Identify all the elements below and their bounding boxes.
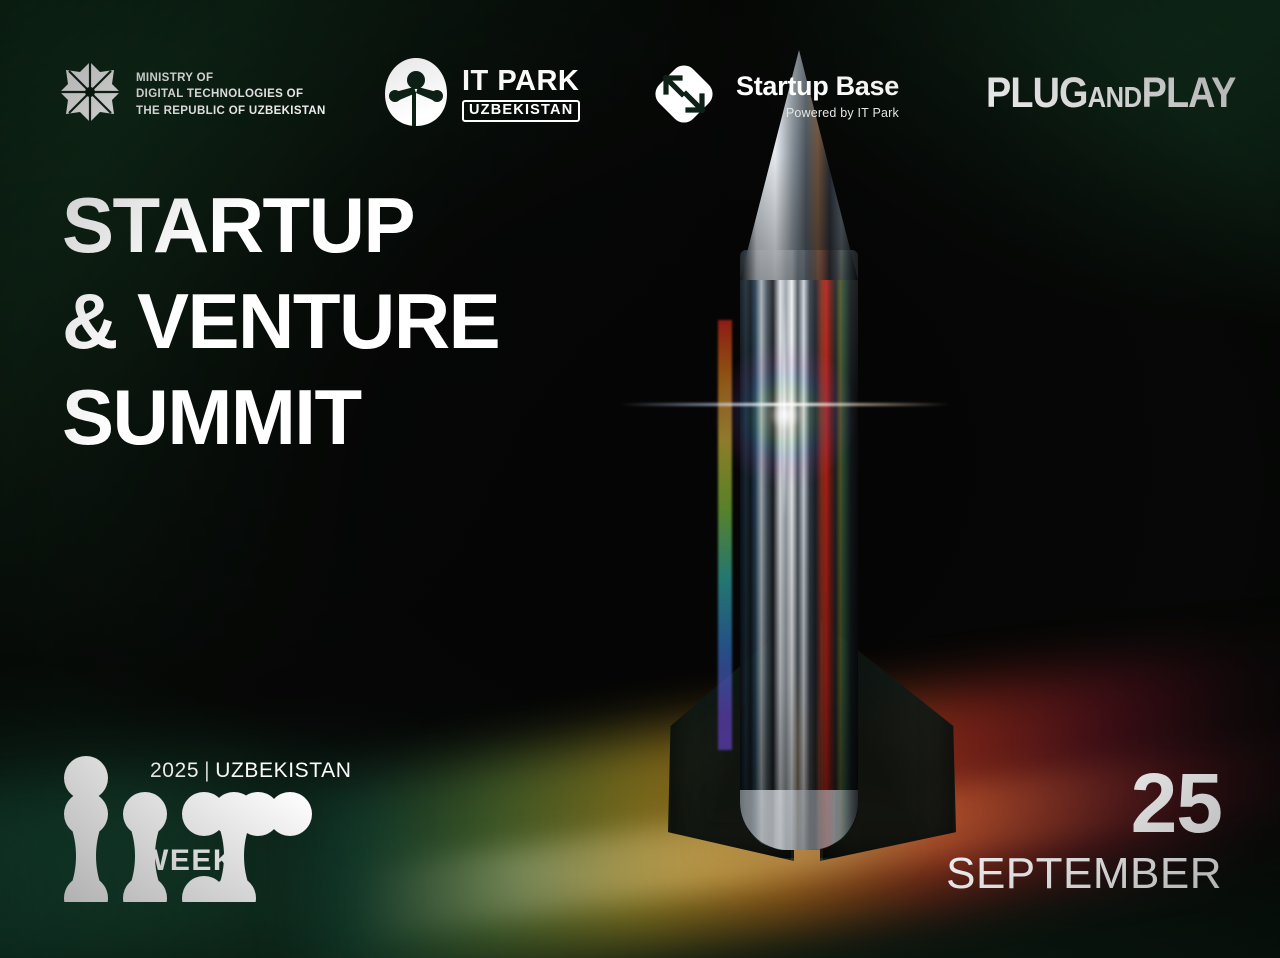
poster-vignette [0, 0, 1280, 958]
poster-canvas: MINISTRY OF DIGITAL TECHNOLOGIES OF THE … [0, 0, 1280, 958]
